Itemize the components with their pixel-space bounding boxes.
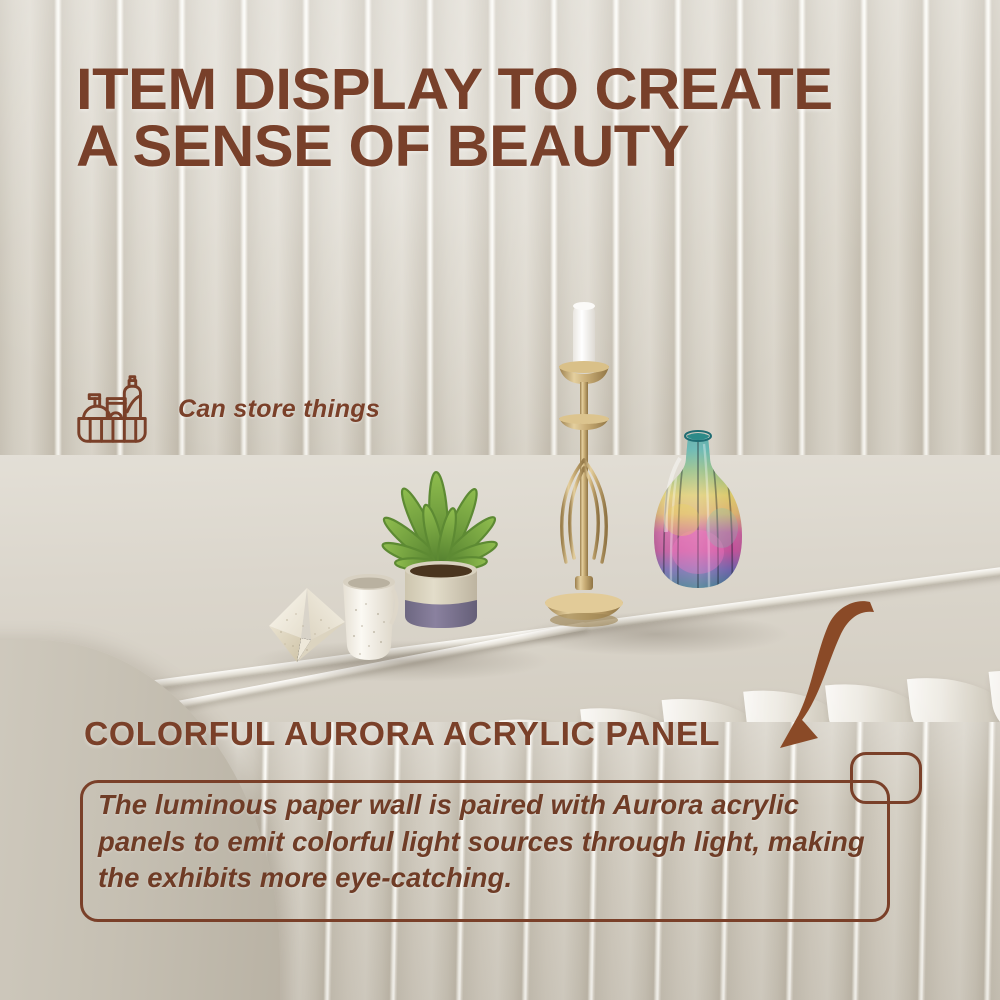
aurora-iridescent-vase [636,424,760,638]
poster-canvas: ITEM DISPLAY TO CREATE A SENSE OF BEAUTY [0,0,1000,1000]
section-subtitle: COLORFUL AURORA ACRYLIC PANEL [84,715,720,753]
description-text: The luminous paper wall is paired with A… [98,787,888,897]
curved-arrow-down-left-icon [762,592,892,762]
brass-candlestick-holder [529,296,637,640]
potted-green-plant [372,462,510,642]
